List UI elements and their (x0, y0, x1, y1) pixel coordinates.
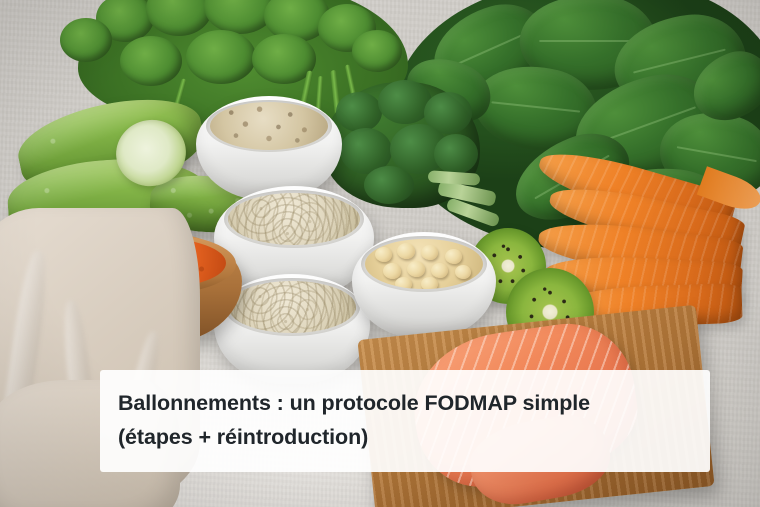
chickpea (455, 265, 471, 279)
chickpea (421, 245, 438, 260)
caption-line-2: (étapes + réintroduction) (118, 420, 692, 454)
parsley-frill (60, 18, 112, 62)
chickpeas (365, 239, 483, 289)
food-photo-scene: Ballonnements : un protocole FODMAP simp… (0, 0, 760, 507)
chickpea (407, 261, 425, 277)
chickpea (431, 263, 448, 278)
chickpea (383, 263, 401, 279)
parsley-frill (186, 30, 256, 84)
parsley-frill (120, 36, 182, 86)
caption-line-1: Ballonnements : un protocole FODMAP simp… (118, 386, 692, 420)
broccoli-floret (364, 166, 414, 204)
buckwheat-grains (210, 102, 328, 150)
chickpea (445, 249, 462, 264)
broccoli-floret (434, 134, 478, 174)
millet-grains (228, 193, 360, 245)
broccoli-floret (336, 92, 382, 132)
caption-overlay: Ballonnements : un protocole FODMAP simp… (100, 370, 710, 472)
quinoa-grains (228, 281, 356, 333)
chickpea (397, 243, 415, 259)
chickpea (395, 277, 412, 289)
chickpea (421, 277, 438, 289)
chickpea (375, 247, 392, 262)
parsley-frill (352, 30, 402, 72)
